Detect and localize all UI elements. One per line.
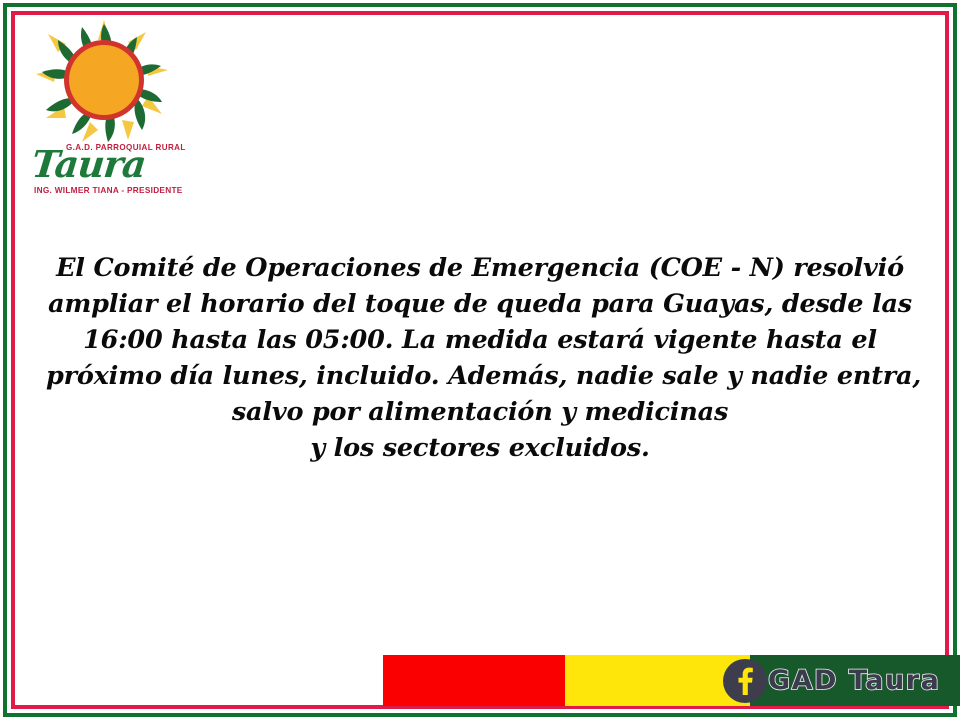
logo-wordmark: G.A.D. PARROQUIAL RURAL Taura ING. WILME… (28, 140, 188, 196)
announcement-line: y los sectores excluidos. (46, 430, 914, 466)
organization-logo: G.A.D. PARROQUIAL RURAL Taura ING. WILME… (28, 18, 188, 193)
announcement-line: próximo día lunes, incluido. Además, nad… (46, 358, 914, 394)
footer-bar-segment-yellow (565, 655, 750, 706)
sun-emblem-icon (34, 18, 174, 146)
footer-bar-segment-green: GAD Taura (750, 655, 960, 706)
poster-canvas: G.A.D. PARROQUIAL RURAL Taura ING. WILME… (0, 0, 960, 720)
announcement-line: El Comité de Operaciones de Emergencia (… (46, 250, 914, 286)
logo-bottom-line: ING. WILMER TIANA - PRESIDENTE (34, 185, 183, 195)
facebook-icon[interactable] (722, 658, 768, 704)
footer-bar-segment-red (383, 655, 565, 706)
sun-center (69, 45, 139, 115)
brand-label: GAD Taura (768, 665, 940, 696)
announcement-line: salvo por alimentación y medicinas (46, 394, 914, 430)
logo-script-name: Taura (30, 146, 147, 183)
announcement-text: El Comité de Operaciones de Emergencia (… (46, 250, 914, 466)
announcement-line: 16:00 hasta las 05:00. La medida estará … (46, 322, 914, 358)
announcement-line: ampliar el horario del toque de queda pa… (46, 286, 914, 322)
footer-color-bar: GAD Taura (383, 655, 960, 706)
